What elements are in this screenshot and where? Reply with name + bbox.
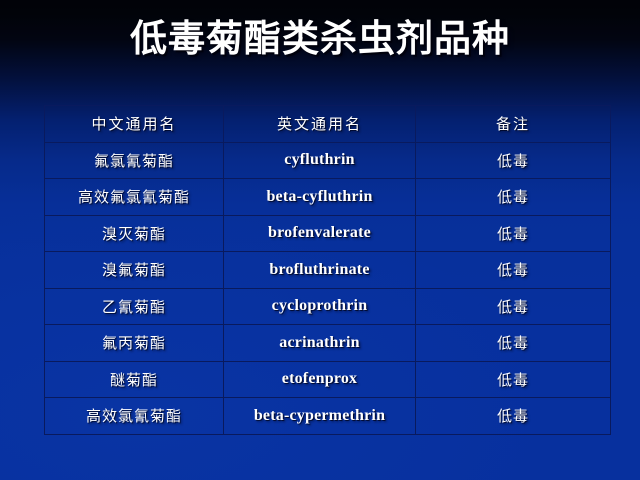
- pesticide-table-container: 中文通用名英文通用名备注氟氯氰菊酯cyfluthrin低毒高效氟氯氰菊酯beta…: [44, 105, 610, 425]
- column-header-en: 英文通用名: [224, 106, 416, 143]
- pesticide-table: 中文通用名英文通用名备注氟氯氰菊酯cyfluthrin低毒高效氟氯氰菊酯beta…: [44, 105, 611, 435]
- cell-chinese-name: 乙氰菊酯: [45, 288, 224, 325]
- cell-chinese-name: 高效氯氰菊酯: [45, 398, 224, 435]
- cell-english-name: cycloprothrin: [224, 288, 416, 325]
- cell-english-name: cyfluthrin: [224, 142, 416, 179]
- column-header-rm: 备注: [416, 106, 611, 143]
- cell-english-name: etofenprox: [224, 361, 416, 398]
- table-row: 高效氯氰菊酯beta-cypermethrin低毒: [45, 398, 611, 435]
- cell-chinese-name: 氟丙菊酯: [45, 325, 224, 362]
- cell-remark: 低毒: [416, 179, 611, 216]
- cell-remark: 低毒: [416, 252, 611, 289]
- table-body: 中文通用名英文通用名备注氟氯氰菊酯cyfluthrin低毒高效氟氯氰菊酯beta…: [45, 106, 611, 435]
- page-title: 低毒菊酯类杀虫剂品种: [0, 16, 640, 62]
- cell-remark: 低毒: [416, 325, 611, 362]
- slide-canvas: 低毒菊酯类杀虫剂品种 中文通用名英文通用名备注氟氯氰菊酯cyfluthrin低毒…: [0, 0, 640, 480]
- table-row: 氟丙菊酯acrinathrin低毒: [45, 325, 611, 362]
- cell-english-name: brofluthrinate: [224, 252, 416, 289]
- cell-english-name: brofenvalerate: [224, 215, 416, 252]
- table-header-row: 中文通用名英文通用名备注: [45, 106, 611, 143]
- table-row: 溴灭菊酯brofenvalerate低毒: [45, 215, 611, 252]
- cell-english-name: beta-cypermethrin: [224, 398, 416, 435]
- cell-remark: 低毒: [416, 398, 611, 435]
- cell-remark: 低毒: [416, 142, 611, 179]
- cell-chinese-name: 醚菊酯: [45, 361, 224, 398]
- cell-chinese-name: 溴氟菊酯: [45, 252, 224, 289]
- cell-remark: 低毒: [416, 361, 611, 398]
- column-header-cn: 中文通用名: [45, 106, 224, 143]
- cell-chinese-name: 氟氯氰菊酯: [45, 142, 224, 179]
- cell-chinese-name: 溴灭菊酯: [45, 215, 224, 252]
- table-row: 氟氯氰菊酯cyfluthrin低毒: [45, 142, 611, 179]
- table-row: 醚菊酯etofenprox低毒: [45, 361, 611, 398]
- table-row: 高效氟氯氰菊酯beta-cyfluthrin低毒: [45, 179, 611, 216]
- cell-remark: 低毒: [416, 288, 611, 325]
- cell-chinese-name: 高效氟氯氰菊酯: [45, 179, 224, 216]
- cell-english-name: acrinathrin: [224, 325, 416, 362]
- cell-remark: 低毒: [416, 215, 611, 252]
- table-row: 乙氰菊酯cycloprothrin低毒: [45, 288, 611, 325]
- cell-english-name: beta-cyfluthrin: [224, 179, 416, 216]
- table-row: 溴氟菊酯brofluthrinate低毒: [45, 252, 611, 289]
